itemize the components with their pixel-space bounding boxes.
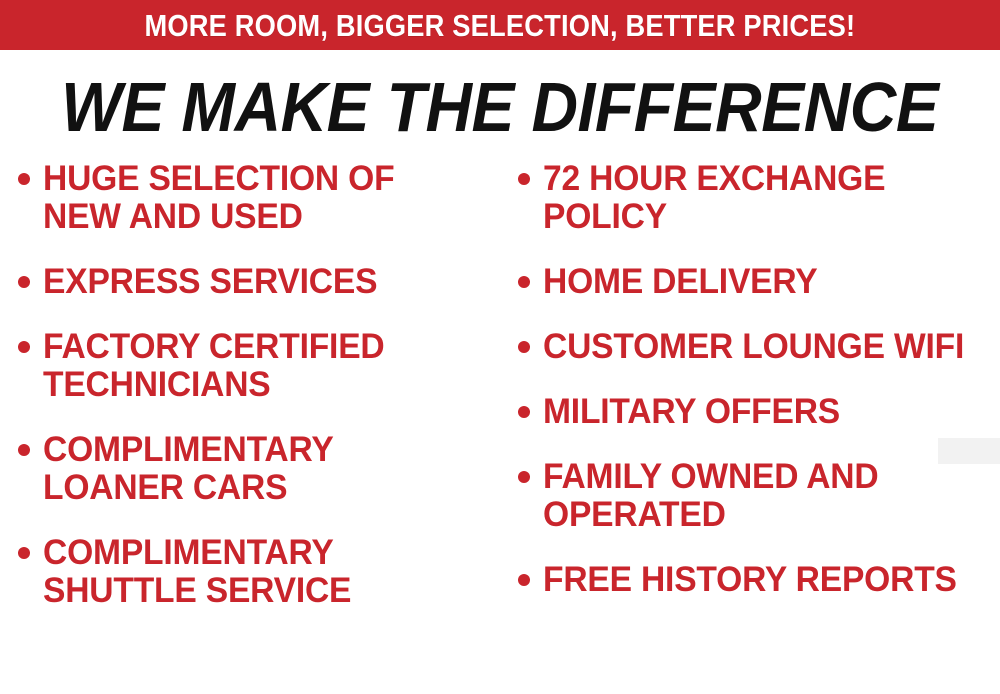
list-item-label: COMPLIMENTARY SHUTTLE SERVICE	[43, 534, 472, 610]
list-item: FAMILY OWNED AND OPERATED	[518, 458, 992, 534]
headline-text: WE MAKE THE DIFFERENCE	[61, 72, 938, 142]
headline: WE MAKE THE DIFFERENCE	[0, 72, 1000, 142]
list-item-label: MILITARY OFFERS	[543, 393, 840, 431]
promo-banner-text: MORE ROOM, BIGGER SELECTION, BETTER PRIC…	[145, 10, 856, 41]
promo-banner: MORE ROOM, BIGGER SELECTION, BETTER PRIC…	[0, 0, 1000, 50]
list-item: COMPLIMENTARY LOANER CARS	[18, 431, 490, 507]
list-item-label: CUSTOMER LOUNGE WIFI	[543, 328, 964, 366]
list-item: HUGE SELECTION OF NEW AND USED	[18, 160, 490, 236]
bullet-dot-icon	[518, 574, 530, 586]
benefits-columns: HUGE SELECTION OF NEW AND USED EXPRESS S…	[0, 160, 1000, 637]
list-item-label: COMPLIMENTARY LOANER CARS	[43, 431, 472, 507]
bullet-dot-icon	[518, 341, 530, 353]
bullet-dot-icon	[518, 471, 530, 483]
list-item: FREE HISTORY REPORTS	[518, 561, 992, 599]
list-item: 72 HOUR EXCHANGE POLICY	[518, 160, 992, 236]
bullet-dot-icon	[518, 406, 530, 418]
list-item: MILITARY OFFERS	[518, 393, 992, 431]
benefits-column-left: HUGE SELECTION OF NEW AND USED EXPRESS S…	[0, 160, 500, 637]
list-item: FACTORY CERTIFIED TECHNICIANS	[18, 328, 490, 404]
list-item-label: FAMILY OWNED AND OPERATED	[543, 458, 974, 534]
list-item-label: HOME DELIVERY	[543, 263, 817, 301]
list-item: CUSTOMER LOUNGE WIFI	[518, 328, 992, 366]
list-item-label: FACTORY CERTIFIED TECHNICIANS	[43, 328, 472, 404]
list-item-label: 72 HOUR EXCHANGE POLICY	[543, 160, 974, 236]
list-item: HOME DELIVERY	[518, 263, 992, 301]
list-item-label: EXPRESS SERVICES	[43, 263, 377, 301]
list-item-label: HUGE SELECTION OF NEW AND USED	[43, 160, 472, 236]
list-item-label: FREE HISTORY REPORTS	[543, 561, 957, 599]
list-item: COMPLIMENTARY SHUTTLE SERVICE	[18, 534, 490, 610]
scan-artifact	[938, 438, 1000, 464]
bullet-dot-icon	[518, 276, 530, 288]
bullet-dot-icon	[518, 173, 530, 185]
